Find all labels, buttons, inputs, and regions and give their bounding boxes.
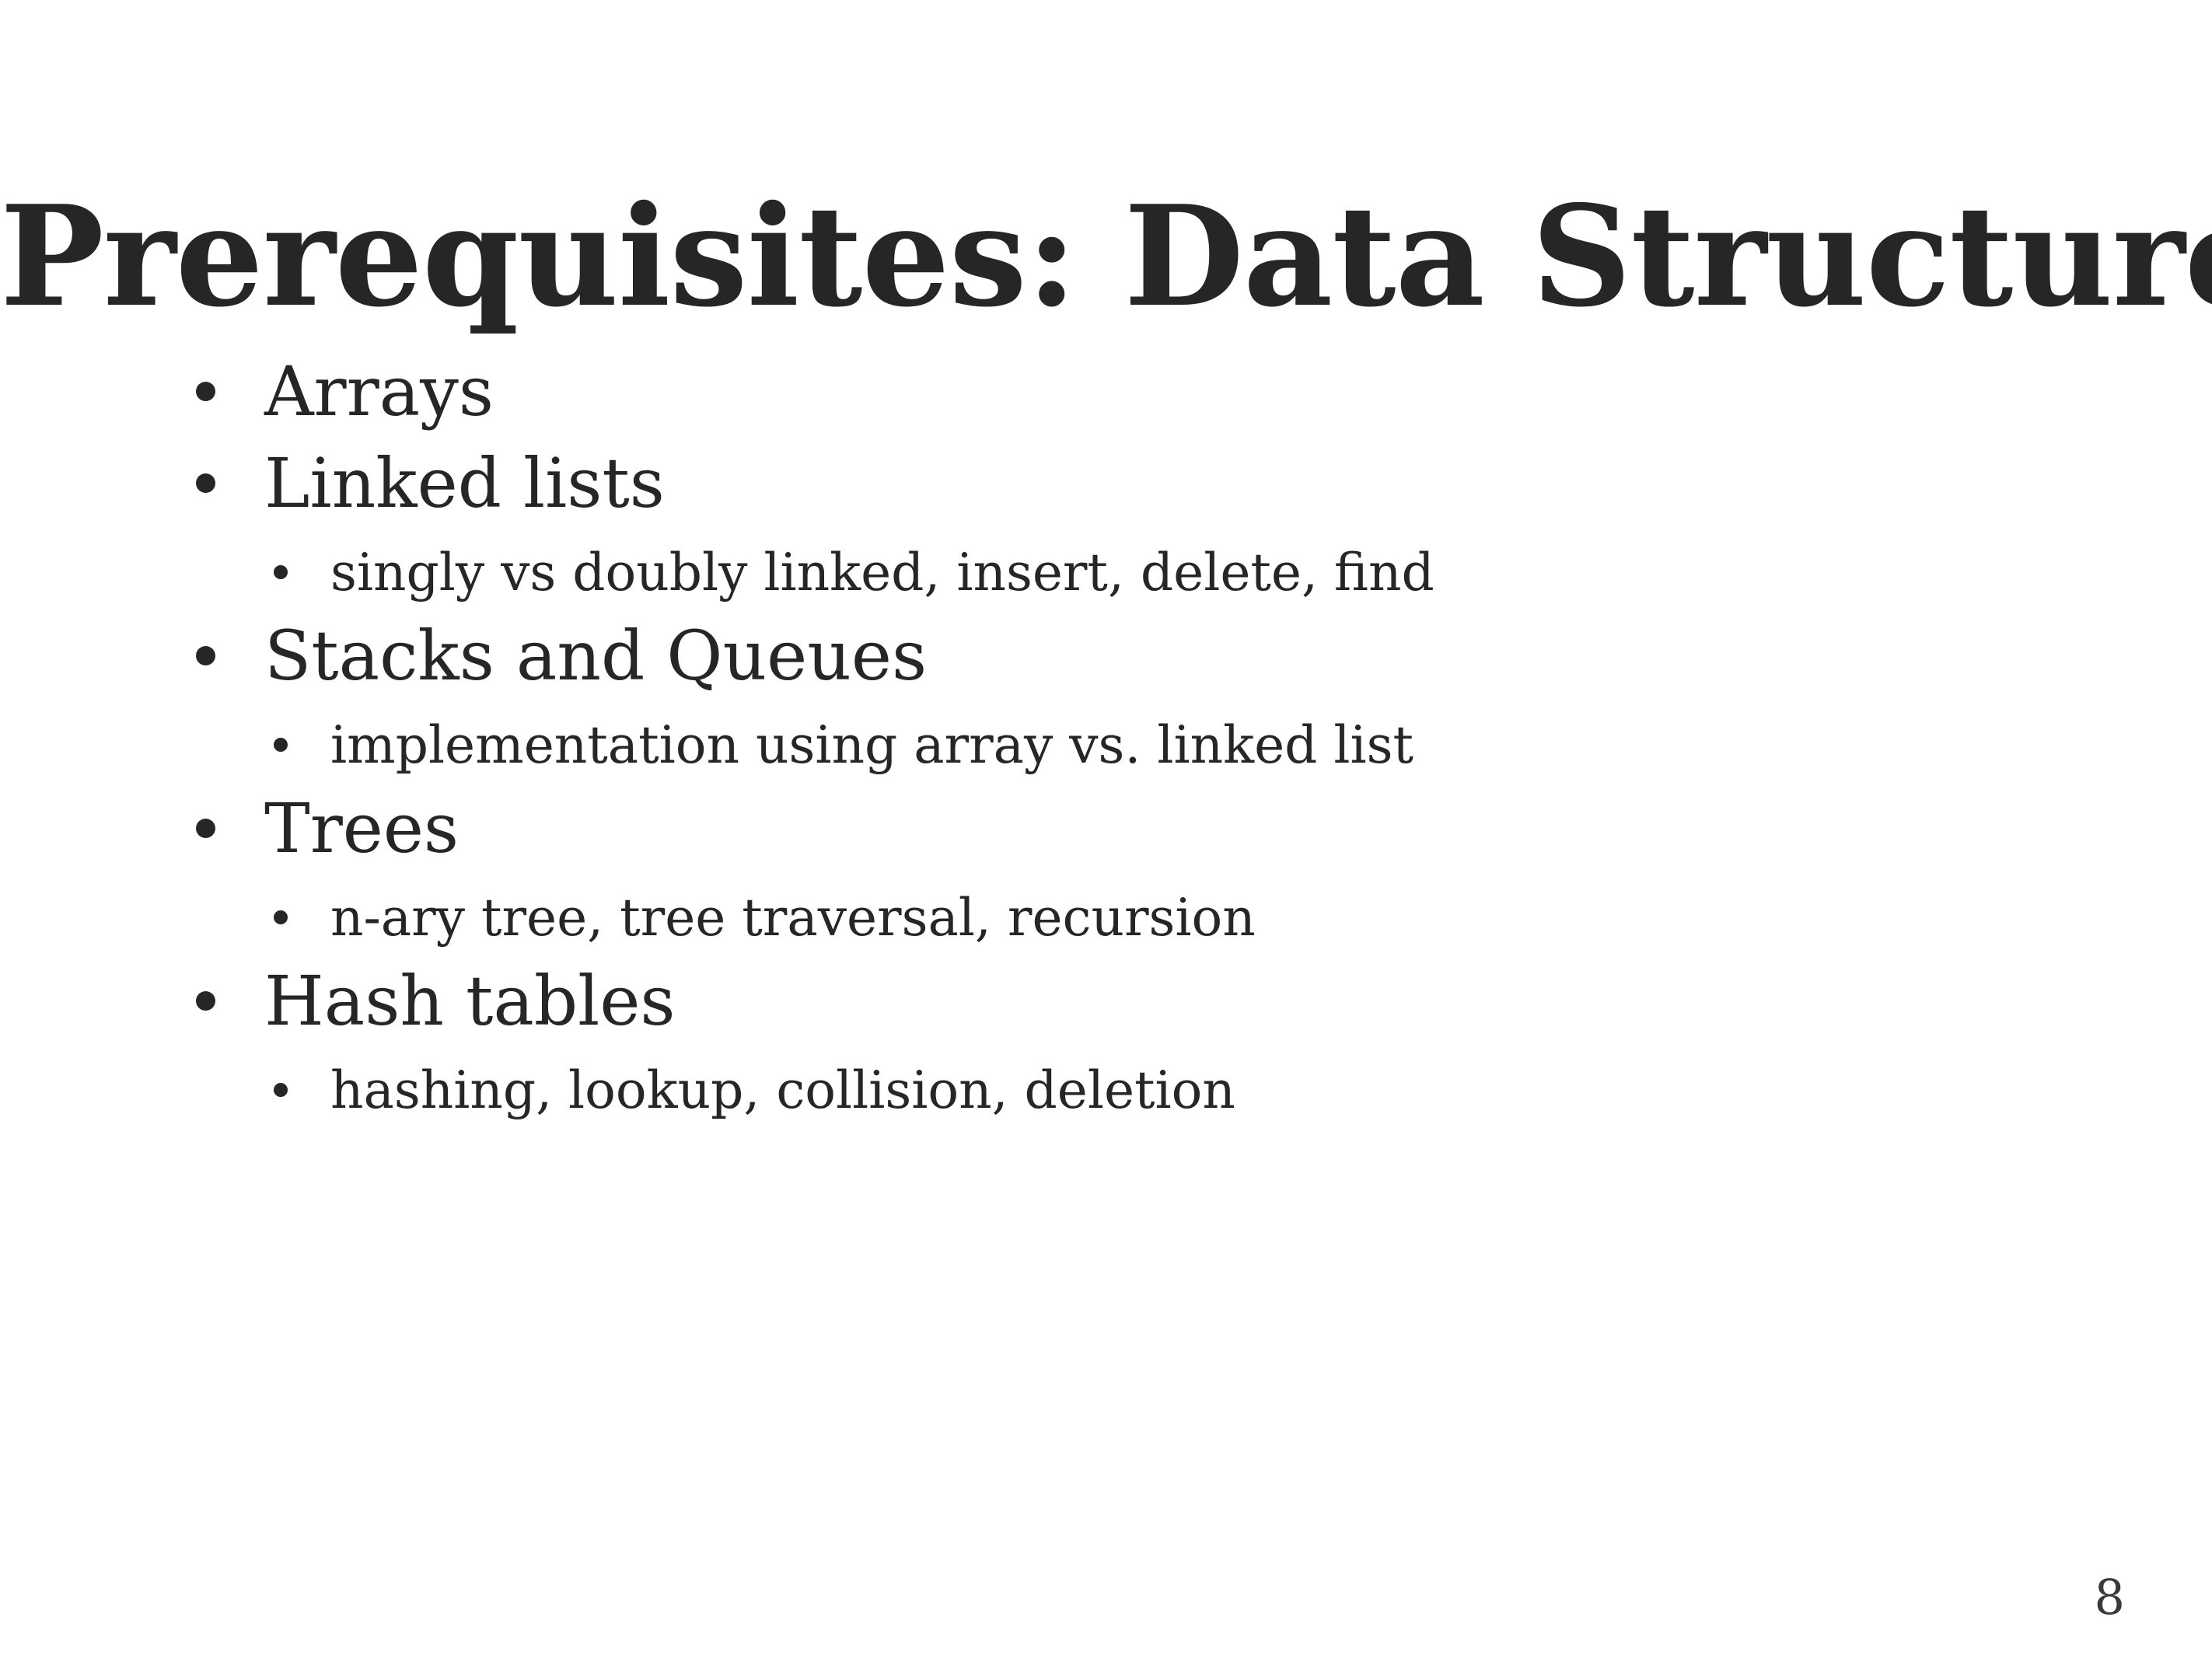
- bullet-dot-icon: [264, 576, 330, 590]
- bullet-dot-icon: [187, 487, 264, 507]
- list-item-label: Arrays: [264, 358, 494, 426]
- presentation-slide: Prerequisites: Data Structures Arrays Li…: [0, 0, 2212, 1659]
- list-item: Arrays: [187, 334, 2088, 426]
- bullet-dot-icon: [264, 921, 330, 935]
- sub-list-item: hashing, lookup, collision, deletion: [187, 1036, 2088, 1116]
- bullet-dot-icon: [187, 833, 264, 852]
- slide-title: Prerequisites: Data Structures: [0, 184, 2212, 328]
- sub-list-item: singly vs doubly linked, insert, delete,…: [187, 518, 2088, 599]
- sub-list-item: n-ary tree, tree traversal, recursion: [187, 863, 2088, 944]
- bullet-dot-icon: [187, 396, 264, 415]
- list-item-label: Stacks and Queues: [264, 622, 927, 690]
- list-item-label: Linked lists: [264, 449, 665, 518]
- sub-list-item: implementation using array vs. linked li…: [187, 690, 2088, 771]
- list-item: Linked lists: [187, 426, 2088, 518]
- list-item-label: Hash tables: [264, 967, 676, 1036]
- sub-list-item-label: hashing, lookup, collision, deletion: [330, 1065, 1235, 1116]
- list-item: Trees: [187, 771, 2088, 863]
- bullet-dot-icon: [187, 660, 264, 679]
- list-item: Stacks and Queues: [187, 599, 2088, 690]
- bullet-list: Arrays Linked lists singly vs doubly lin…: [187, 334, 2088, 1116]
- bullet-dot-icon: [187, 1005, 264, 1025]
- sub-list-item-label: singly vs doubly linked, insert, delete,…: [330, 547, 1434, 599]
- sub-list-item-label: n-ary tree, tree traversal, recursion: [330, 892, 1256, 944]
- page-number: 8: [2095, 1573, 2125, 1622]
- bullet-dot-icon: [264, 749, 330, 763]
- bullet-dot-icon: [264, 1094, 330, 1108]
- list-item-label: Trees: [264, 795, 459, 863]
- sub-list-item-label: implementation using array vs. linked li…: [330, 720, 1414, 771]
- list-item: Hash tables: [187, 944, 2088, 1036]
